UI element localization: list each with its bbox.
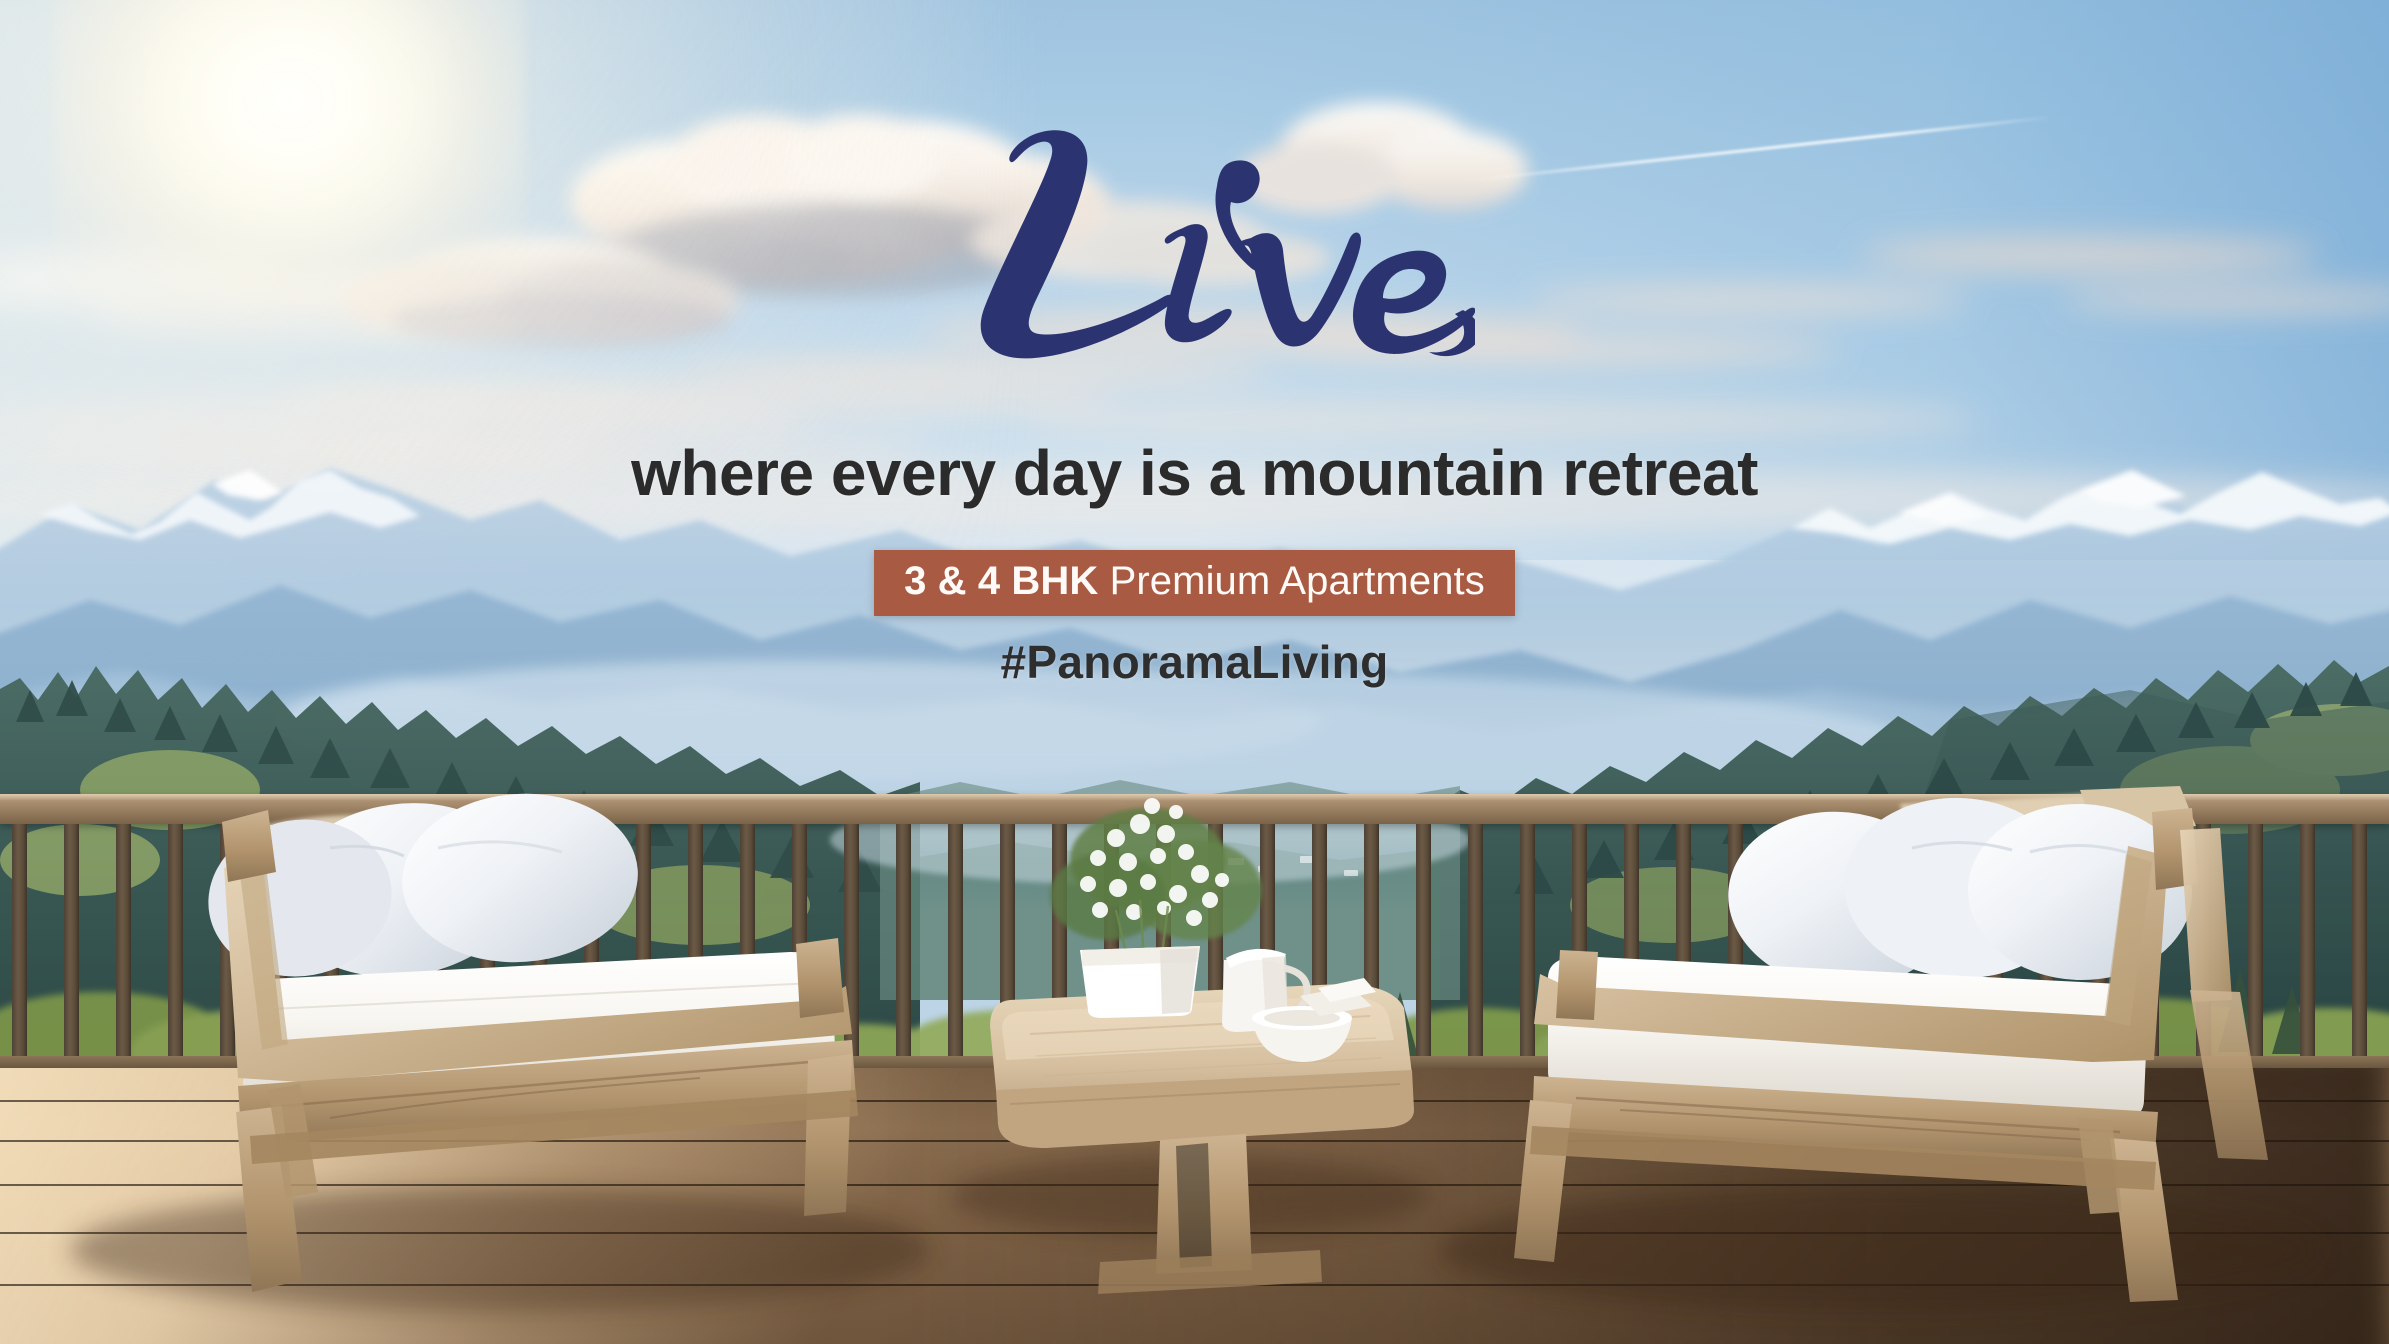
hashtag: #PanoramaLiving xyxy=(0,635,2389,689)
badge-rest: Premium Apartments xyxy=(1098,559,1484,603)
badge-highlight: 3 & 4 BHK xyxy=(904,559,1098,603)
offering-badge: 3 & 4 BHK Premium Apartments xyxy=(874,550,1515,616)
tagline: where every day is a mountain retreat xyxy=(0,440,2389,507)
outdoor-sofa-right xyxy=(1440,786,2320,1312)
live-script-logo xyxy=(915,120,1475,380)
hero-banner: where every day is a mountain retreat 3 … xyxy=(0,0,2389,1344)
coffee-table xyxy=(950,984,1430,1294)
outdoor-sofa-left xyxy=(70,786,930,1312)
brand-logo xyxy=(0,120,2389,380)
